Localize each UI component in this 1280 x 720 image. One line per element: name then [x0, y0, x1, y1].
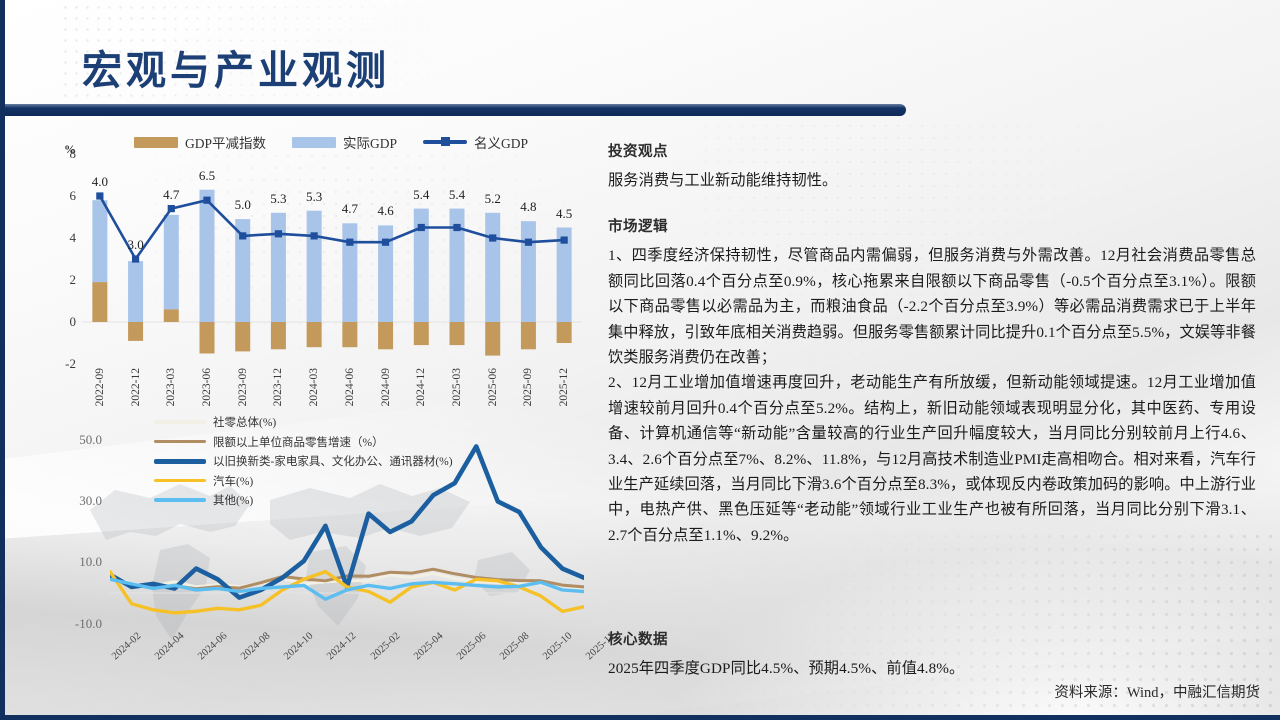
gdp-bar-deflator	[307, 322, 322, 347]
gdp-nominal-marker	[489, 234, 496, 241]
legend-swatch-deflator	[134, 137, 178, 148]
gdp-nominal-marker	[453, 224, 460, 231]
gdp-data-label: 4.7	[163, 187, 179, 203]
retail-chart-plot-area: -10.010.030.050.02024-022024-042024-0620…	[110, 422, 584, 648]
gdp-bar-deflator	[235, 322, 250, 351]
gdp-bar-deflator	[557, 322, 572, 343]
retail-y-tick: 10.0	[79, 554, 102, 570]
gdp-y-tick: 2	[70, 272, 77, 288]
slide-canvas: 宏观与产业观测 % GDP平减指数 实际GDP 名义GDP	[0, 0, 1280, 720]
gdp-x-tick: 2023-12	[272, 368, 284, 406]
gdp-bar-deflator	[414, 322, 429, 345]
market-logic-paragraph-1: 1、四季度经济保持韧性，尽管商品内需偏弱，但服务消费与外需改善。12月社会消费品…	[608, 243, 1256, 370]
legend-item-deflator: GDP平减指数	[134, 132, 266, 152]
gdp-bar-real	[128, 261, 143, 322]
gdp-bar-deflator	[521, 322, 536, 349]
gdp-chart: % GDP平减指数 实际GDP 名义GDP -2024682022-094.02…	[46, 126, 594, 406]
gdp-data-label: 4.7	[342, 201, 358, 217]
gdp-y-tick: 0	[70, 314, 77, 330]
gdp-bar-deflator	[92, 282, 107, 322]
gdp-x-tick: 2024-09	[380, 368, 392, 406]
gdp-y-tick: -2	[65, 356, 76, 372]
gdp-data-label: 4.0	[92, 174, 108, 190]
retail-y-tick: 50.0	[79, 432, 102, 448]
gdp-data-label: 5.4	[413, 187, 429, 203]
gdp-bar-deflator	[485, 322, 500, 356]
gdp-data-label: 6.5	[199, 168, 215, 184]
investment-view-body: 服务消费与工业新动能维持韧性。	[608, 168, 1256, 193]
gdp-x-tick: 2022-09	[94, 368, 106, 406]
gdp-x-tick: 2024-03	[308, 368, 320, 406]
retail-chart-svg	[110, 422, 584, 648]
gdp-data-label: 4.5	[556, 206, 572, 222]
gdp-data-label: 4.6	[377, 203, 393, 219]
gdp-x-tick: 2025-12	[558, 368, 570, 406]
gdp-bar-real	[521, 221, 536, 322]
gdp-data-label: 5.4	[449, 187, 465, 203]
gdp-data-label: 5.3	[270, 191, 286, 207]
retail-series-line	[110, 572, 584, 613]
legend-item-nominal-gdp: 名义GDP	[423, 132, 528, 152]
market-logic-paragraph-2: 2、12月工业增加值增速再度回升，老动能生产有所放缓，但新动能领域提速。12月工…	[608, 370, 1256, 548]
gdp-bar-real	[164, 215, 179, 310]
gdp-bar-deflator	[378, 322, 393, 349]
header-accent-bar-sheen	[0, 104, 906, 108]
gdp-bar-deflator	[342, 322, 357, 347]
gdp-x-tick: 2023-09	[237, 368, 249, 406]
gdp-nominal-marker	[132, 255, 139, 262]
legend-line-nominal-gdp	[423, 140, 467, 144]
source-note: 资料来源：Wind，中融汇信期货	[1054, 681, 1260, 702]
gdp-chart-legend: GDP平减指数 实际GDP 名义GDP	[134, 132, 528, 152]
gdp-chart-svg	[82, 154, 582, 364]
gdp-bar-real	[92, 200, 107, 282]
legend-label-nominal-gdp: 名义GDP	[474, 132, 528, 152]
gdp-x-tick: 2025-09	[522, 368, 534, 406]
gdp-nominal-marker	[203, 197, 210, 204]
gdp-chart-plot-area: -2024682022-094.02022-123.02023-034.7202…	[82, 154, 582, 364]
gdp-y-tick: 8	[70, 146, 77, 162]
investment-view-heading: 投资观点	[608, 140, 1256, 161]
core-data-body: 2025年四季度GDP同比4.5%、预期4.5%、前值4.8%。	[608, 656, 1256, 681]
gdp-data-label: 5.3	[306, 189, 322, 205]
market-logic-heading: 市场逻辑	[608, 215, 1256, 236]
charts-column: % GDP平减指数 实际GDP 名义GDP -2024682022-094.02…	[46, 126, 594, 706]
gdp-bar-real	[307, 211, 322, 322]
gdp-nominal-marker	[239, 232, 246, 239]
page-title: 宏观与产业观测	[82, 38, 390, 96]
gdp-x-tick: 2023-03	[165, 368, 177, 406]
gdp-nominal-marker	[275, 230, 282, 237]
gdp-nominal-marker	[418, 224, 425, 231]
legend-label-deflator: GDP平减指数	[185, 132, 266, 152]
gdp-x-tick: 2024-06	[344, 368, 356, 406]
gdp-nominal-marker	[382, 239, 389, 246]
gdp-nominal-marker	[346, 239, 353, 246]
core-data-block: 核心数据 2025年四季度GDP同比4.5%、预期4.5%、前值4.8%。	[608, 628, 1256, 681]
legend-swatch-real-gdp	[292, 137, 336, 148]
core-data-heading: 核心数据	[608, 628, 1256, 649]
gdp-x-tick: 2023-06	[201, 368, 213, 406]
gdp-bar-real	[342, 223, 357, 322]
left-edge-accent	[0, 0, 5, 720]
gdp-y-tick: 6	[70, 188, 77, 204]
gdp-x-tick: 2025-06	[487, 368, 499, 406]
gdp-bar-deflator	[128, 322, 143, 341]
gdp-bar-real	[200, 190, 215, 322]
retail-y-tick: -10.0	[75, 616, 102, 632]
gdp-nominal-marker	[96, 192, 103, 199]
gdp-x-tick: 2024-12	[415, 368, 427, 406]
gdp-bar-deflator	[271, 322, 286, 349]
legend-item-real-gdp: 实际GDP	[292, 132, 397, 152]
retail-y-tick: 30.0	[79, 493, 102, 509]
gdp-data-label: 5.2	[485, 191, 501, 207]
slide-header: 宏观与产业观测	[0, 0, 1280, 118]
gdp-bar-deflator	[200, 322, 215, 354]
bottom-edge-accent	[0, 715, 1280, 720]
gdp-data-label: 3.0	[127, 237, 143, 253]
gdp-data-label: 5.0	[235, 197, 251, 213]
gdp-bar-deflator	[450, 322, 465, 345]
gdp-y-tick: 4	[70, 230, 77, 246]
gdp-x-tick: 2025-03	[451, 368, 463, 406]
gdp-data-label: 4.8	[520, 199, 536, 215]
gdp-bar-real	[271, 213, 286, 322]
gdp-bar-real	[485, 213, 500, 322]
gdp-nominal-marker	[168, 205, 175, 212]
gdp-nominal-marker	[311, 232, 318, 239]
gdp-nominal-marker	[561, 237, 568, 244]
commentary-column: 投资观点 服务消费与工业新动能维持韧性。 市场逻辑 1、四季度经济保持韧性，尽管…	[608, 140, 1256, 548]
legend-label-real-gdp: 实际GDP	[343, 132, 397, 152]
retail-chart: 社零总体(%) 限额以上单位商品零售增速（%） 以旧换新类-家电家具、文化办公、…	[46, 414, 594, 706]
gdp-x-tick: 2022-12	[130, 368, 142, 406]
gdp-nominal-marker	[525, 239, 532, 246]
gdp-bar-deflator	[164, 309, 179, 322]
